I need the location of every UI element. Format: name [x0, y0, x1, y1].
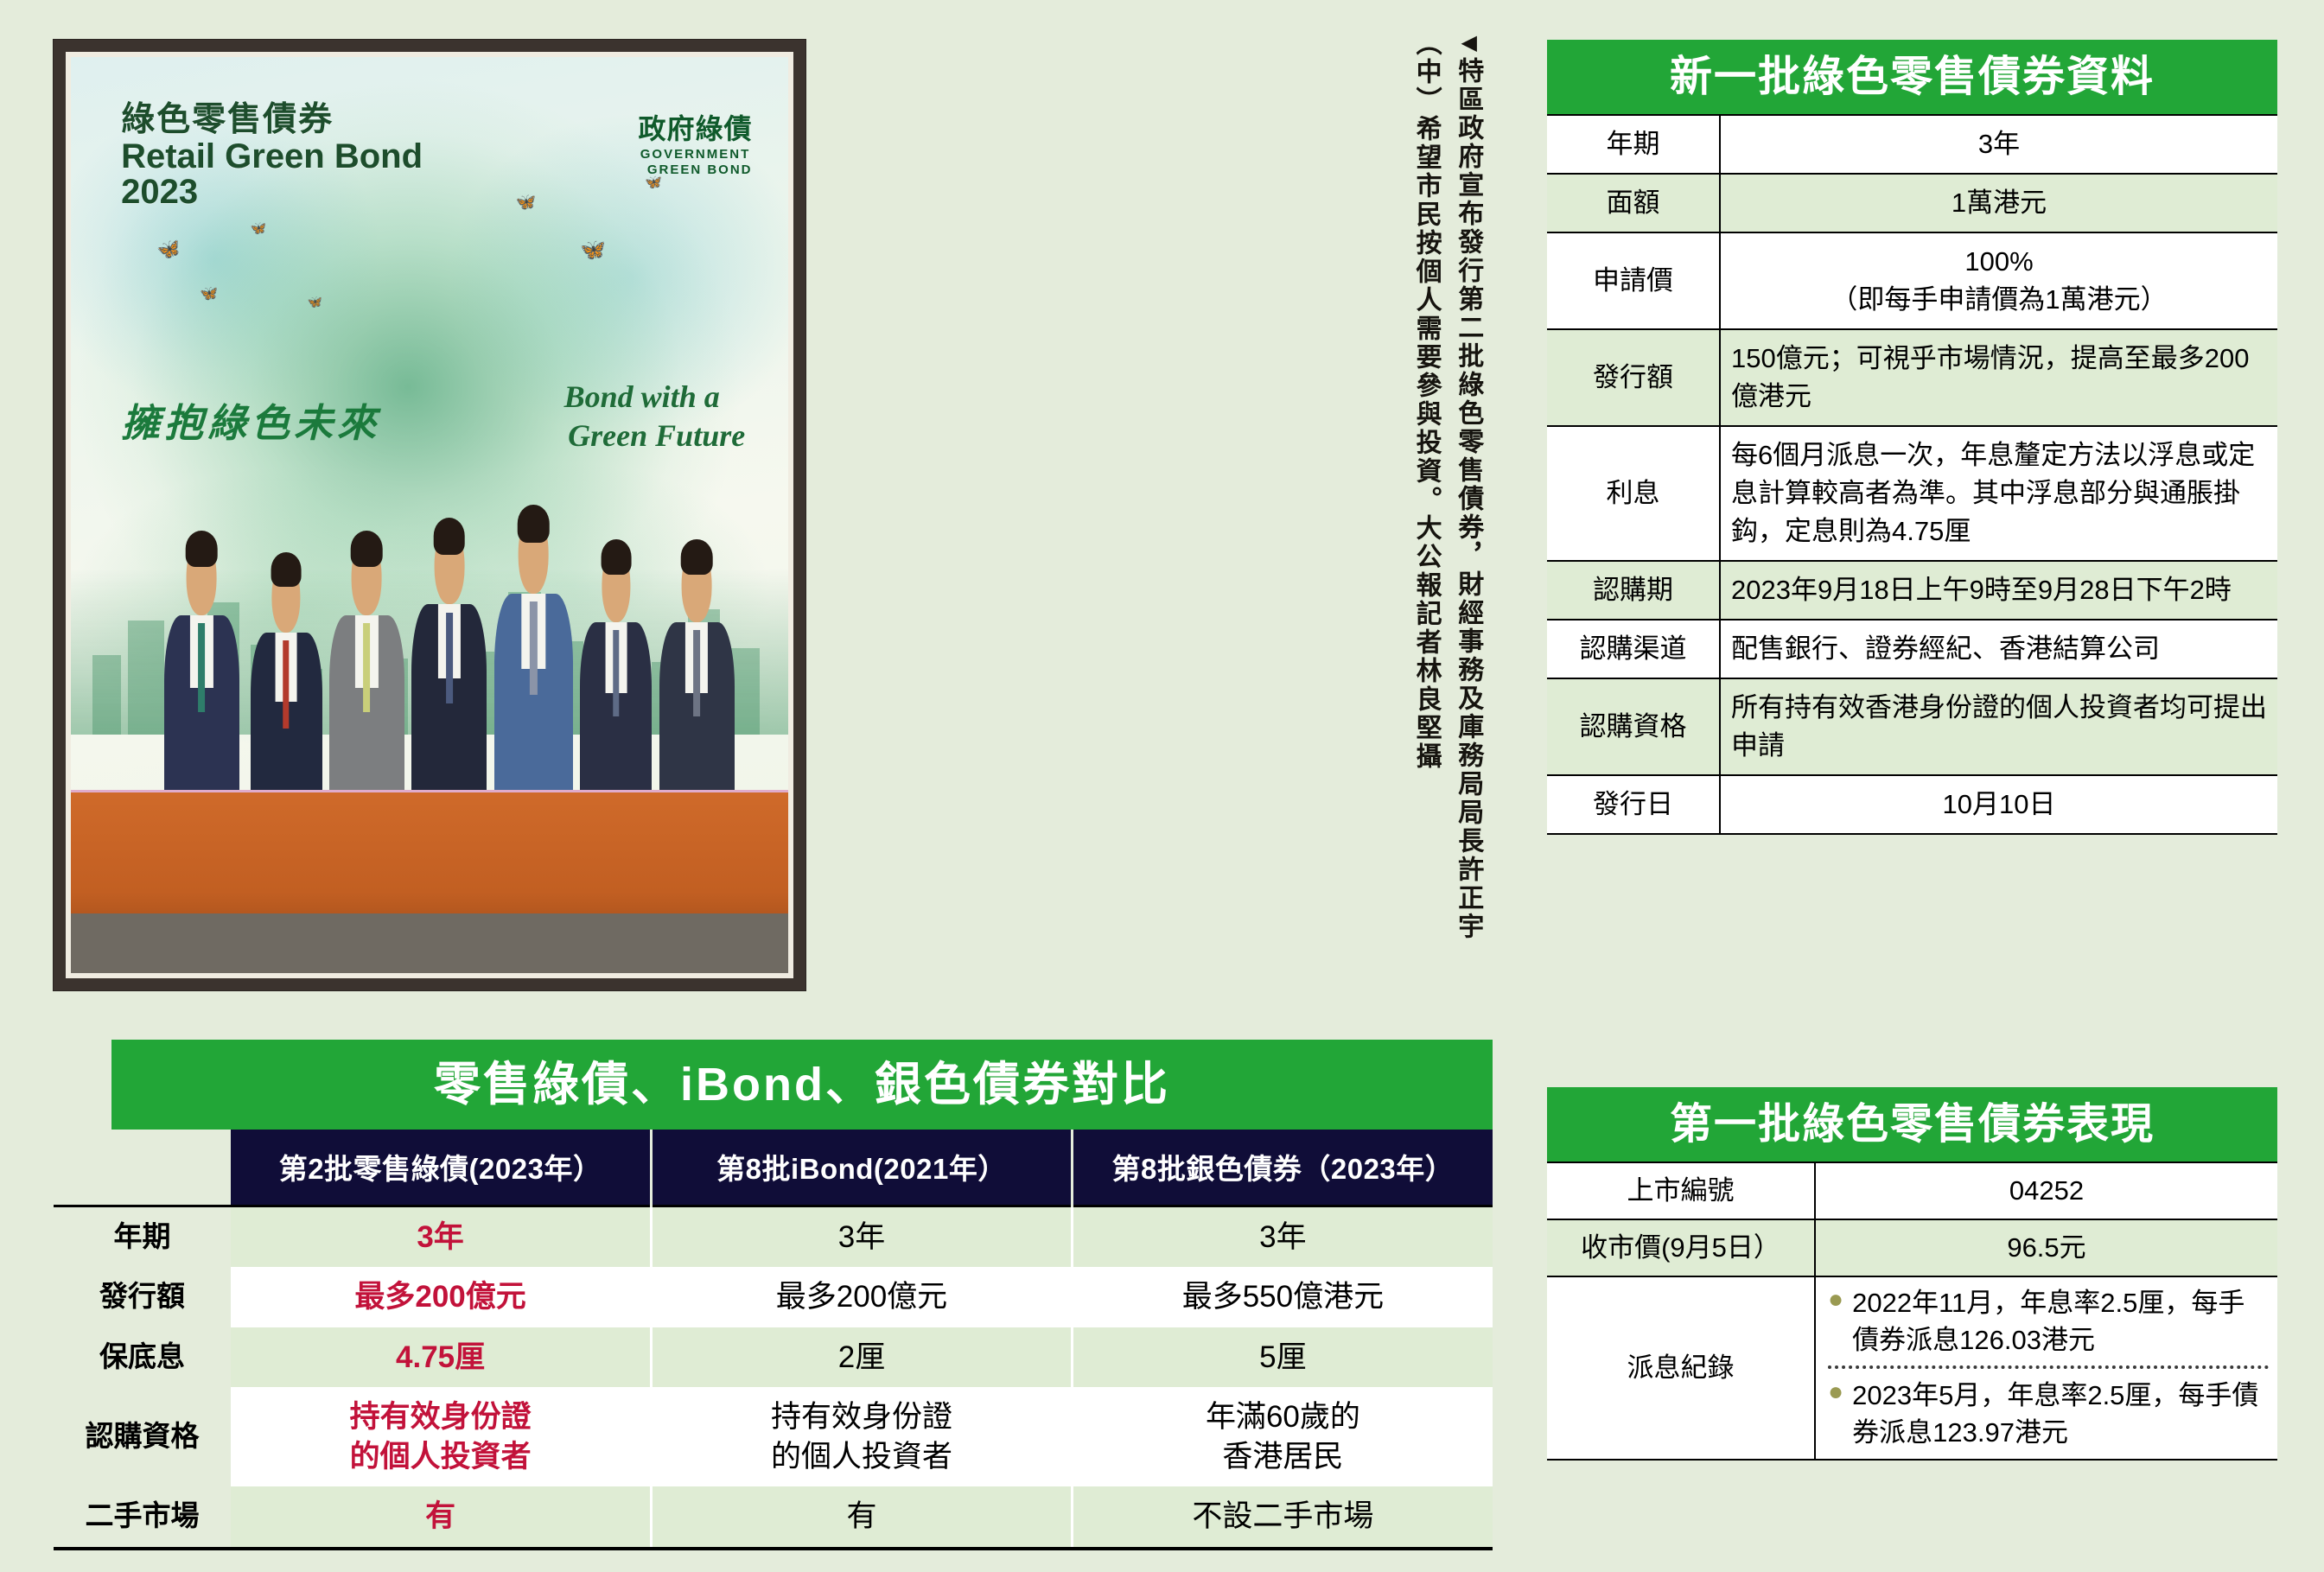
poster-slogan-en-line1: Bond with a	[538, 378, 745, 417]
row-label: 年期	[1547, 115, 1720, 174]
divider	[1828, 1365, 2269, 1369]
photo-caption: ◀特區政府宣布發行第二批綠色零售債券，財經事務及庫務局局長許正宇（中）希望市民按…	[1404, 29, 1534, 997]
poster-title-cn: 綠色零售債券	[121, 103, 423, 137]
poster-slogan-en: Bond with a Green Future	[538, 378, 745, 455]
row-value: 10月10日	[1720, 775, 2277, 834]
cell-value: 持有效身份證 的個人投資者	[652, 1387, 1073, 1486]
poster-slogan-en-line2: Green Future	[538, 417, 745, 455]
table-row: 年期 3年 3年 3年	[54, 1206, 1493, 1267]
cell-value: 3年	[1072, 1206, 1493, 1267]
bullet-dot-icon: ●	[1828, 1377, 1843, 1407]
cell-value: 年滿60歲的 香港居民	[1072, 1387, 1493, 1486]
row-label: 認購期	[1547, 561, 1720, 620]
bird-icon: 🦋	[308, 296, 322, 308]
poster-title-year: 2023	[121, 175, 423, 210]
row-label: 面額	[1547, 174, 1720, 232]
caption-vertical-text: ◀特區政府宣布發行第二批綠色零售債券，財經事務及庫務局局長許正宇（中）希望市民按…	[1404, 29, 1488, 997]
caption-credit: 大公報記者林良堅攝	[1412, 514, 1441, 771]
poster-slogan-cn: 擁抱綠色未來	[121, 391, 380, 448]
comparison-table: 零售綠債、iBond、銀色債券對比 第2批零售綠債(2023年） 第8批iBon…	[54, 1040, 1493, 1550]
cell-value: 最多550億港元	[1072, 1267, 1493, 1327]
row-label: 收市價(9月5日）	[1547, 1219, 1815, 1276]
new-bond-info-table: 新一批綠色零售債券資料 年期 3年 面額 1萬港元 申請價 100% （即每手申…	[1547, 40, 2277, 835]
poster-title-en: Retail Green Bond	[121, 139, 423, 175]
cell-value: 不設二手市場	[1072, 1486, 1493, 1549]
row-label: 發行額	[1547, 329, 1720, 426]
list-item: ● 2022年11月，年息率2.5厘，每手債券派息126.03港元	[1828, 1284, 2269, 1359]
green-bond-poster: 🦋 🦋 🦋 🦋 🦋 🦋 🦋 綠色零售債券 Retail Green Bond 2…	[66, 52, 793, 978]
row-value: 每6個月派息一次，年息釐定方法以浮息或定息計算較高者為準。其中浮息部分與通脹掛鈎…	[1720, 426, 2277, 561]
logo-label-cn: 政府綠債	[638, 107, 752, 147]
press-conference-photo: 🦋 🦋 🦋 🦋 🦋 🦋 🦋 綠色零售債券 Retail Green Bond 2…	[54, 40, 805, 990]
row-label: 認購資格	[1547, 678, 1720, 775]
column-header-ibond: 第8批iBond(2021年）	[652, 1130, 1073, 1206]
caption-body: 特區政府宣布發行第二批綠色零售債券，財經事務及庫務局局長許正宇（中）希望市民按個…	[1412, 29, 1483, 941]
first-bond-performance-grid: 上市編號 04252 收市價(9月5日） 96.5元 派息紀錄 ● 2022年1…	[1547, 1161, 2277, 1461]
cell-value: 最多200億元	[231, 1267, 652, 1327]
government-green-bond-logo: 政府綠債 GOVERNMENT GREEN BOND	[638, 107, 752, 178]
list-item: ● 2023年5月，年息率2.5厘，每手債券派息123.97港元	[1828, 1377, 2269, 1452]
cell-value: 最多200億元	[652, 1267, 1073, 1327]
logo-label-en-1: GOVERNMENT	[638, 147, 752, 162]
row-label: 發行額	[54, 1267, 231, 1327]
table-row: 發行額 最多200億元 最多200億元 最多550億港元	[54, 1267, 1493, 1327]
row-label: 利息	[1547, 426, 1720, 561]
row-value: 100% （即每手申請價為1萬港元）	[1720, 232, 2277, 329]
cell-value: 5厘	[1072, 1327, 1493, 1388]
row-label: 認購資格	[54, 1387, 231, 1486]
row-value: 3年	[1720, 115, 2277, 174]
table-row: 利息 每6個月派息一次，年息釐定方法以浮息或定息計算較高者為準。其中浮息部分與通…	[1547, 426, 2277, 561]
row-value: 配售銀行、證券經紀、香港結算公司	[1720, 620, 2277, 678]
photo-frame: 🦋 🦋 🦋 🦋 🦋 🦋 🦋 綠色零售債券 Retail Green Bond 2…	[54, 40, 805, 990]
list-item-text: 2023年5月，年息率2.5厘，每手債券派息123.97港元	[1852, 1377, 2269, 1452]
first-bond-performance-title: 第一批綠色零售債券表現	[1547, 1087, 2277, 1161]
row-label: 保底息	[54, 1327, 231, 1388]
table-row-dividend-record: 派息紀錄 ● 2022年11月，年息率2.5厘，每手債券派息126.03港元 ●…	[1547, 1276, 2277, 1460]
cell-value: 持有效身份證 的個人投資者	[231, 1387, 652, 1486]
comparison-table-title: 零售綠債、iBond、銀色債券對比	[111, 1040, 1493, 1130]
bird-icon: 🦋	[200, 286, 218, 301]
cell-value: 4.75厘	[231, 1327, 652, 1388]
list-item-text: 2022年11月，年息率2.5厘，每手債券派息126.03港元	[1852, 1284, 2269, 1359]
table-row: 認購期 2023年9月18日上午9時至9月28日下午2時	[1547, 561, 2277, 620]
dividend-record-list: ● 2022年11月，年息率2.5厘，每手債券派息126.03港元 ● 2023…	[1815, 1276, 2277, 1460]
cell-value: 有	[231, 1486, 652, 1549]
cell-value: 3年	[652, 1206, 1073, 1267]
row-value: 所有持有效香港身份證的個人投資者均可提出申請	[1720, 678, 2277, 775]
bullet-dot-icon: ●	[1828, 1284, 1843, 1314]
poster-title: 綠色零售債券 Retail Green Bond 2023	[121, 103, 423, 211]
floor	[71, 913, 788, 973]
cell-value: 2厘	[652, 1327, 1073, 1388]
row-label: 上市編號	[1547, 1162, 1815, 1219]
logo-label-en-2: GREEN BOND	[638, 162, 752, 178]
row-value: 1萬港元	[1720, 174, 2277, 232]
row-value: 04252	[1815, 1162, 2277, 1219]
table-row: 認購資格 持有效身份證 的個人投資者 持有效身份證 的個人投資者 年滿60歲的 …	[54, 1387, 1493, 1486]
row-label: 年期	[54, 1206, 231, 1267]
table-row: 認購資格 所有持有效香港身份證的個人投資者均可提出申請	[1547, 678, 2277, 775]
row-label: 二手市場	[54, 1486, 231, 1549]
table-row: 二手市場 有 有 不設二手市場	[54, 1486, 1493, 1549]
comparison-grid: 第2批零售綠債(2023年） 第8批iBond(2021年） 第8批銀色債券（2…	[54, 1130, 1493, 1550]
row-value: 2023年9月18日上午9時至9月28日下午2時	[1720, 561, 2277, 620]
cell-value: 3年	[231, 1206, 652, 1267]
bird-icon: 🦋	[580, 240, 606, 261]
row-label: 認購渠道	[1547, 620, 1720, 678]
first-bond-performance-table: 第一批綠色零售債券表現 上市編號 04252 收市價(9月5日） 96.5元 派…	[1547, 1087, 2277, 1461]
triangle-marker-icon: ◀	[1456, 29, 1479, 57]
column-header-green-bond: 第2批零售綠債(2023年）	[231, 1130, 652, 1206]
table-row: 發行日 10月10日	[1547, 775, 2277, 834]
bird-icon: 🦋	[156, 238, 182, 261]
row-label: 申請價	[1547, 232, 1720, 329]
new-bond-info-title: 新一批綠色零售債券資料	[1547, 40, 2277, 114]
cell-value: 有	[652, 1486, 1073, 1549]
table-row: 收市價(9月5日） 96.5元	[1547, 1219, 2277, 1276]
row-value: 96.5元	[1815, 1219, 2277, 1276]
column-header-silver-bond: 第8批銀色債券（2023年）	[1072, 1130, 1493, 1206]
table-row: 年期 3年	[1547, 115, 2277, 174]
new-bond-info-grid: 年期 3年 面額 1萬港元 申請價 100% （即每手申請價為1萬港元） 發行額…	[1547, 114, 2277, 835]
table-row: 發行額 150億元；可視乎市場情況，提高至最多200億港元	[1547, 329, 2277, 426]
table-row: 保底息 4.75厘 2厘 5厘	[54, 1327, 1493, 1388]
table-row: 上市編號 04252	[1547, 1162, 2277, 1219]
bird-icon: 🦋	[251, 222, 267, 235]
corner-cell	[54, 1130, 231, 1206]
row-label: 發行日	[1547, 775, 1720, 834]
table-row: 認購渠道 配售銀行、證券經紀、香港結算公司	[1547, 620, 2277, 678]
table-header-row: 第2批零售綠債(2023年） 第8批iBond(2021年） 第8批銀色債券（2…	[54, 1130, 1493, 1206]
row-label: 派息紀錄	[1547, 1276, 1815, 1460]
table-row: 面額 1萬港元	[1547, 174, 2277, 232]
table-row: 申請價 100% （即每手申請價為1萬港元）	[1547, 232, 2277, 329]
row-value: 150億元；可視乎市場情況，提高至最多200億港元	[1720, 329, 2277, 426]
bird-icon: 🦋	[516, 194, 537, 211]
